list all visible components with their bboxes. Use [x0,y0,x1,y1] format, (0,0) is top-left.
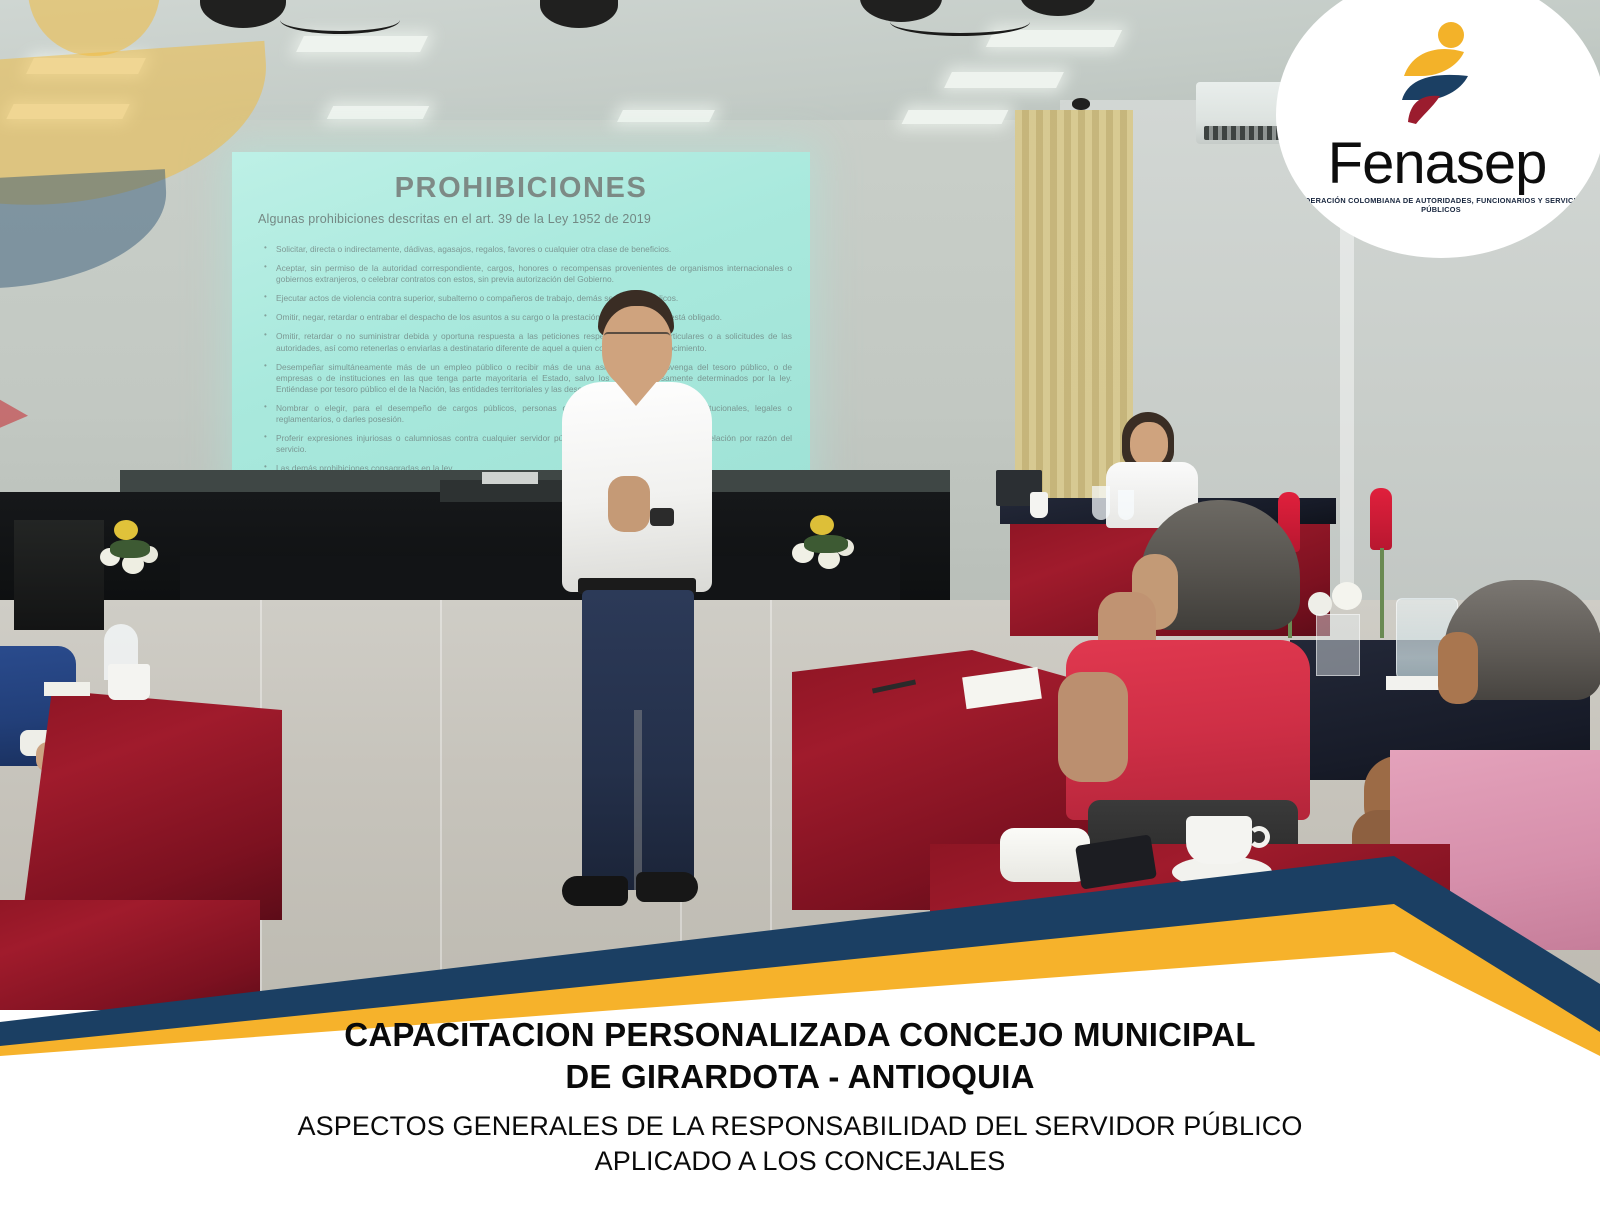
flower-arrangement [96,520,166,590]
slide-title: PROHIBICIONES [232,172,810,205]
attendee-red-polo [1040,500,1320,830]
caption-subtitle-line-2: APLICADO A LOS CONCEJALES [0,1144,1600,1179]
slide-bullet: Aceptar, sin permiso de la autoridad cor… [262,263,792,285]
floor-tile-line [440,600,442,1010]
napkin-left [44,682,90,696]
ceiling-light-panel [296,36,428,52]
presenter-hand [608,476,650,532]
logo-wing-yellow [1404,49,1464,76]
caption-title-line-1: CAPACITACION PERSONALIZADA CONCEJO MUNIC… [0,1014,1600,1056]
speaker-cable [280,6,400,34]
flower-foliage [804,535,848,553]
cup-handle [1248,826,1270,848]
flower-vase [1316,614,1360,676]
presenter-shoe [562,876,628,906]
logo-wordmark: Fenasep [1276,130,1598,197]
ceiling-light-panel [327,106,429,119]
speaker-cable [890,8,1030,36]
caption-subtitle-line-1: ASPECTOS GENERALES DE LA RESPONSABILIDAD… [0,1109,1600,1144]
pa-speaker [14,520,104,630]
event-promo-card: PROHIBICIONES Algunas prohibiciones desc… [0,0,1600,1221]
ceiling-light-panel [944,72,1064,88]
caption-title-line-2: DE GIRARDOTA - ANTIOQUIA [0,1056,1600,1098]
white-rose [1332,582,1362,610]
presenter-shoe [636,872,698,902]
slide-subtitle: Algunas prohibiciones descritas en el ar… [258,212,792,226]
flower-yellow [114,520,138,540]
presenter-glasses [604,332,670,344]
coffee-cup [108,664,150,700]
table-red-left-back [22,690,282,920]
laptop-closed [482,472,538,484]
ceiling-light-panel [902,110,1009,124]
ceiling-light-panel [26,58,146,74]
ceiling-light-panel [6,104,129,119]
ginger-flower [1370,488,1392,550]
attendee-ear-side [1438,632,1478,704]
presenter-head [602,306,672,388]
presenter [540,290,730,930]
flower-foliage [110,540,150,558]
presenter-leg-gap [634,710,642,890]
flower-yellow [810,515,834,535]
ceiling-light-panel [617,110,715,122]
logo-tagline: FEDERACIÓN COLOMBIANA DE AUTORIDADES, FU… [1288,196,1594,214]
slide-bullet: Solicitar, directa o indirectamente, dád… [262,244,792,255]
table-red-left-front [0,900,260,1010]
caption-subtitle: ASPECTOS GENERALES DE LA RESPONSABILIDAD… [0,1109,1600,1179]
flower-arrangement [790,515,862,587]
logo-head-circle [1438,22,1464,48]
caption-title: CAPACITACION PERSONALIZADA CONCEJO MUNIC… [0,1014,1600,1097]
fenasep-logo-icon [1388,22,1484,126]
attendee-head [1130,422,1168,466]
coffee-cup [1186,816,1252,864]
ceiling-dome-camera [1072,98,1090,110]
floor-tile-line [770,600,772,1010]
caption-block: CAPACITACION PERSONALIZADA CONCEJO MUNIC… [0,1014,1600,1179]
attendee-arm [1058,672,1128,782]
ceiling-light-panel [986,30,1122,47]
presenter-watch [650,508,674,526]
